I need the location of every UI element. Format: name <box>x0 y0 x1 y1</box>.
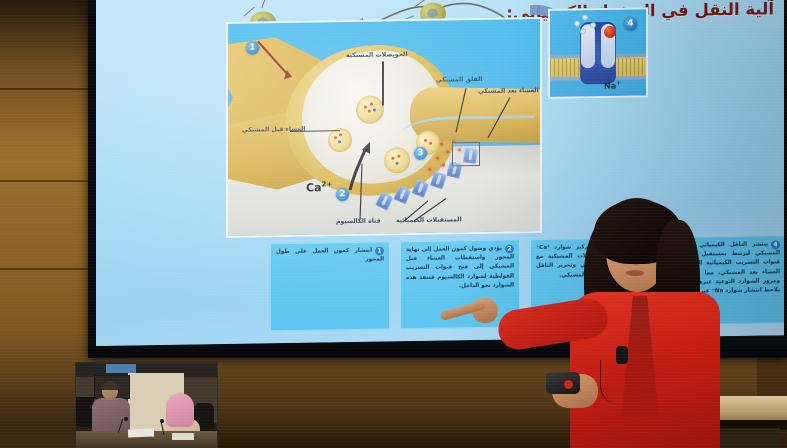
synapse-diagram-panel: 1 2 3 Ca2+ الحويصلات المشبكية الفلق <box>226 17 542 238</box>
presenter-pointing-hand <box>440 296 496 326</box>
presenter <box>560 196 750 448</box>
sodium-label: Na+ <box>604 80 621 91</box>
ion-channel-inset: 4 Na+ <box>548 7 648 99</box>
post-membrane-leader <box>472 95 518 144</box>
label-calcium-channel: قناة الكالسيوم <box>336 218 381 226</box>
pip-monitor <box>106 364 136 373</box>
action-potential-arrow <box>254 39 302 88</box>
label-vesicles: الحويصلات المشبكية <box>346 51 408 59</box>
microphone-wire <box>600 360 627 404</box>
text-box-1: 1انتشار كمون العمل على طول المحور <box>270 241 390 331</box>
pip-person-man <box>92 398 130 432</box>
calcium-ion-label: Ca2+ <box>306 180 332 194</box>
label-synaptic-cleft: الفلق المشبكي <box>436 76 482 84</box>
picture-in-picture-video[interactable] <box>75 362 218 448</box>
label-pre-membrane: الغشاء قبل المشبكي <box>242 126 305 134</box>
label-chemical-receptors: المستقبلات الكيميائية <box>396 216 462 224</box>
label-post-membrane: الغشاء بعد المشبكي <box>478 87 539 95</box>
calcium-channel-leader <box>346 162 376 224</box>
presentation-clicker[interactable] <box>546 372 580 394</box>
screenshot-stage: آلية النقل في المشبك الكيميائي: <box>0 0 787 448</box>
receptor-highlight-box <box>452 142 480 166</box>
